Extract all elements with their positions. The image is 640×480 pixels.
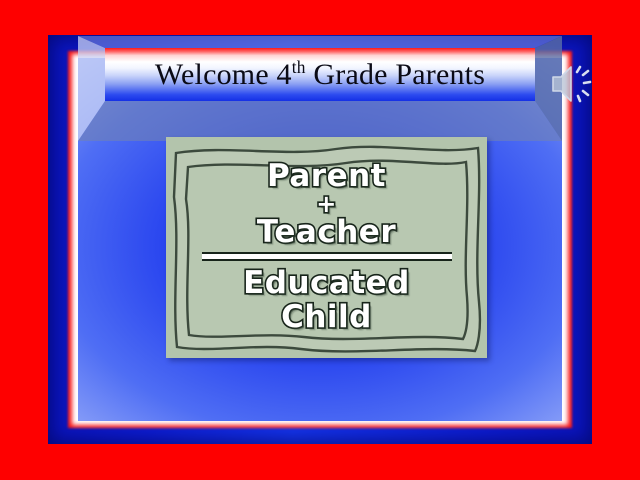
speaker-icon[interactable]: Sound: [550, 60, 596, 108]
poster-wavy-border: [166, 137, 487, 358]
speaker-icon-glyph: [550, 60, 596, 108]
speaker-icon-label: Sound: [596, 60, 597, 61]
presentation-slide: Welcome 4th Grade Parents Sound Pare: [0, 0, 640, 480]
poster-image: Parent + Teacher Educated Child: [166, 137, 487, 358]
page-title: Welcome 4th Grade Parents: [105, 48, 535, 101]
title-plate: Welcome 4th Grade Parents: [105, 48, 535, 101]
title-ordinal-suffix: th: [292, 57, 306, 77]
title-rest: Grade Parents: [306, 58, 485, 91]
title-prefix: Welcome 4: [155, 58, 292, 91]
